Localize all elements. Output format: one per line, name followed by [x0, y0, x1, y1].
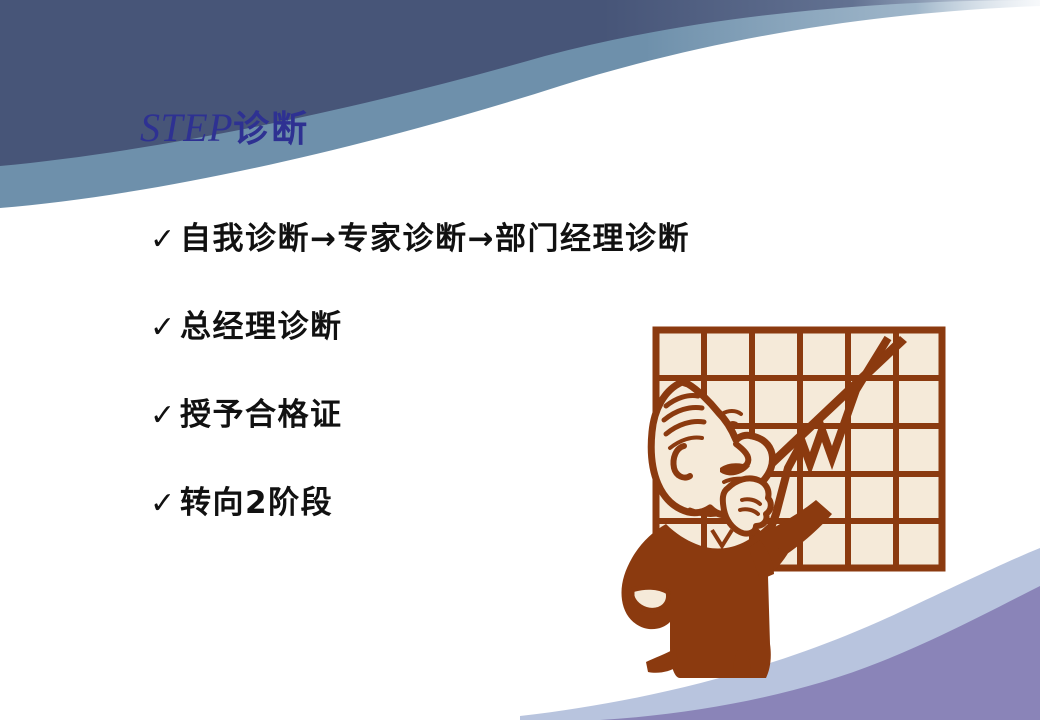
- hand-icon: [723, 478, 771, 533]
- page-title-latin: STEP: [140, 105, 233, 150]
- checkmark-icon: ✓: [150, 401, 180, 431]
- list-item-label: 授予合格证: [180, 398, 343, 432]
- businessman-pointing-at-rising-chart-illustration: [570, 318, 960, 678]
- list-item: ✓ 自我诊断→专家诊断→部门经理诊断: [150, 222, 850, 310]
- checkmark-icon: ✓: [150, 489, 180, 519]
- page-title-cjk: 诊断: [233, 109, 309, 150]
- checkmark-icon: ✓: [150, 225, 180, 255]
- list-item-label: 自我诊断→专家诊断→部门经理诊断: [180, 222, 690, 256]
- page-title: STEP诊断: [140, 106, 309, 150]
- top-left-steel-blue-band: [0, 0, 1040, 208]
- list-item-label: 总经理诊断: [180, 310, 343, 344]
- hip-hand-icon: [632, 587, 669, 610]
- list-item-label: 转向2阶段: [180, 486, 333, 520]
- slide-canvas: STEP诊断 ✓ 自我诊断→专家诊断→部门经理诊断 ✓ 总经理诊断 ✓ 授予合格…: [0, 0, 1040, 720]
- checkmark-icon: ✓: [150, 313, 180, 343]
